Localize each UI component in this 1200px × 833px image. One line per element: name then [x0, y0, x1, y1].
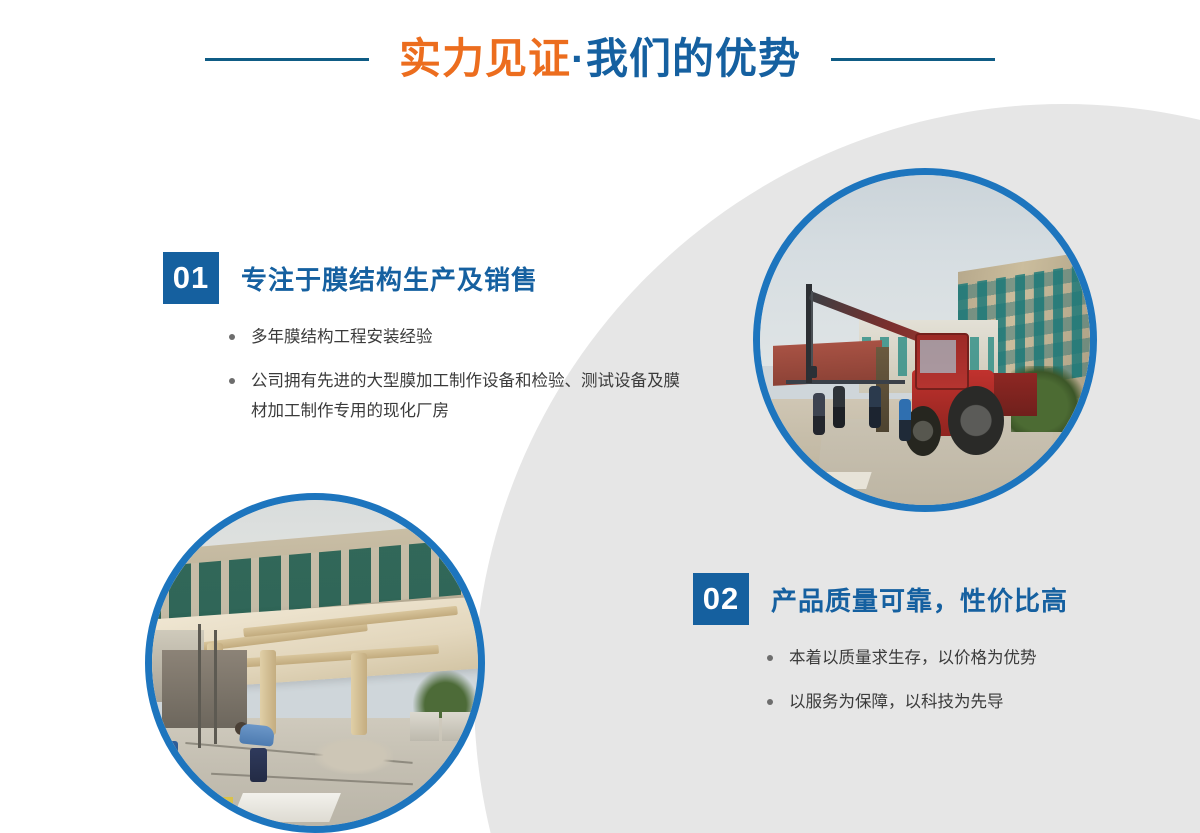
page-title-orange: 实力见证 [399, 35, 571, 82]
feature-02-number-badge: 02 [693, 573, 749, 625]
photo1-worker [833, 386, 845, 428]
photo1-front-wheel [905, 406, 941, 456]
photo-circle-construction-crane [753, 168, 1097, 512]
banner-rule-right [831, 58, 995, 61]
photo2-scaffold-pole [214, 630, 217, 744]
photo1-worker [899, 399, 911, 441]
photo2-membrane-sheet [231, 793, 341, 822]
page-title: 实力见证·我们的优势 [399, 38, 801, 80]
feature-02-bullet-list: 本着以质量求生存，以价格为优势 以服务为保障，以科技为先导 [759, 643, 1113, 717]
feature-01-number-badge: 01 [163, 252, 219, 304]
photo2-yellow-marker [207, 797, 233, 807]
photo2-rubble [315, 738, 393, 774]
photo2-worker-torso [239, 723, 275, 746]
photo1-crane-hook [808, 366, 817, 378]
banner-rule-left [205, 58, 369, 61]
photo1-worker [869, 386, 881, 428]
feature-01-bullet-list: 多年膜结构工程安装经验 公司拥有先进的大型膜加工制作设备和检验、测试设备及膜材加… [221, 322, 683, 427]
feature-02-header: 02 产品质量可靠，性价比高 [693, 573, 1113, 625]
photo1-crane-cable [811, 291, 813, 377]
list-item: 公司拥有先进的大型膜加工制作设备和检验、测试设备及膜材加工制作专用的现化厂房 [221, 366, 681, 427]
photo2-scaffold-pole [198, 624, 201, 748]
page-banner: 实力见证·我们的优势 [0, 26, 1200, 92]
feature-block-02: 02 产品质量可靠，性价比高 本着以质量求生存，以价格为优势 以服务为保障，以科… [693, 573, 1113, 730]
photo1-cab-window [920, 340, 956, 373]
feature-01-header: 01 专注于膜结构生产及销售 [163, 252, 683, 304]
photo2-sand-bag [442, 712, 471, 741]
photo2-canopy-column [260, 650, 276, 735]
photo1-worker [813, 393, 825, 435]
photo2-canopy-column [351, 653, 367, 735]
advantage-page: 实力见证·我们的优势 [0, 0, 1200, 833]
photo2-blue-drum [155, 741, 178, 774]
feature-02-title: 产品质量可靠，性价比高 [771, 581, 1068, 618]
list-item: 以服务为保障，以科技为先导 [759, 687, 1113, 718]
list-item: 本着以质量求生存，以价格为优势 [759, 643, 1113, 674]
feature-block-01: 01 专注于膜结构生产及销售 多年膜结构工程安装经验 公司拥有先进的大型膜加工制… [163, 252, 683, 440]
photo1-panel [807, 472, 872, 489]
photo2-sand-bag [410, 712, 439, 741]
photo-circle-membrane-carport [145, 493, 485, 833]
photo1-fence [786, 380, 905, 384]
photo2-worker-legs [250, 748, 267, 782]
photo-carport-content [152, 500, 478, 826]
photo-crane-content [760, 175, 1090, 505]
list-item: 多年膜结构工程安装经验 [221, 322, 681, 353]
page-title-blue: ·我们的优势 [571, 35, 801, 82]
feature-01-title: 专注于膜结构生产及销售 [241, 260, 538, 297]
photo2-machinery [162, 650, 247, 728]
